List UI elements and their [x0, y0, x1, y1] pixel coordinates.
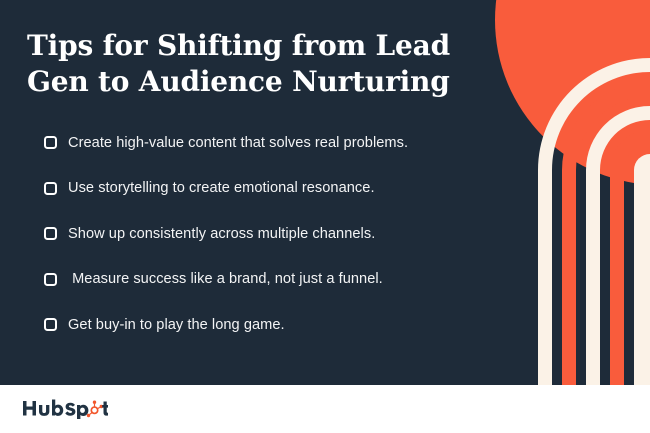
- square-outline-bullet-icon: [44, 182, 57, 195]
- logo-letter-t: [102, 402, 108, 416]
- list-item: Show up consistently across multiple cha…: [44, 211, 514, 257]
- logo-letter-p: [77, 405, 88, 419]
- list-item-label: Get buy-in to play the long game.: [68, 317, 285, 333]
- hubspot-logo-graphic: [22, 398, 108, 419]
- square-outline-bullet-icon: [44, 273, 57, 286]
- square-outline-bullet-icon: [44, 227, 57, 240]
- logo-letter-h: [23, 401, 36, 416]
- list-item: Measure success like a brand, not just a…: [44, 257, 514, 303]
- screenshot-canvas: Tips for Shifting from Lead Gen to Audie…: [0, 0, 650, 433]
- hubspot-sprocket-icon: [87, 401, 103, 418]
- arc-inner-cream: [634, 154, 650, 385]
- list-item-label: Show up consistently across multiple cha…: [68, 226, 375, 242]
- page-title: Tips for Shifting from Lead Gen to Audie…: [27, 28, 497, 100]
- list-item-label: Use storytelling to create emotional res…: [68, 180, 375, 196]
- list-item-label: Measure success like a brand, not just a…: [68, 271, 383, 287]
- logo-letter-s: [65, 403, 75, 416]
- list-item: Create high-value content that solves re…: [44, 120, 514, 166]
- list-item: Get buy-in to play the long game.: [44, 302, 514, 348]
- content-card: Tips for Shifting from Lead Gen to Audie…: [0, 0, 650, 385]
- logo-letter-b: [52, 400, 63, 416]
- list-item-label: Create high-value content that solves re…: [68, 135, 408, 151]
- list-item: Use storytelling to create emotional res…: [44, 166, 514, 212]
- tips-list: Create high-value content that solves re…: [44, 120, 514, 348]
- square-outline-bullet-icon: [44, 318, 57, 331]
- hubspot-logo: [22, 398, 108, 419]
- logo-letter-u: [39, 405, 49, 416]
- square-outline-bullet-icon: [44, 136, 57, 149]
